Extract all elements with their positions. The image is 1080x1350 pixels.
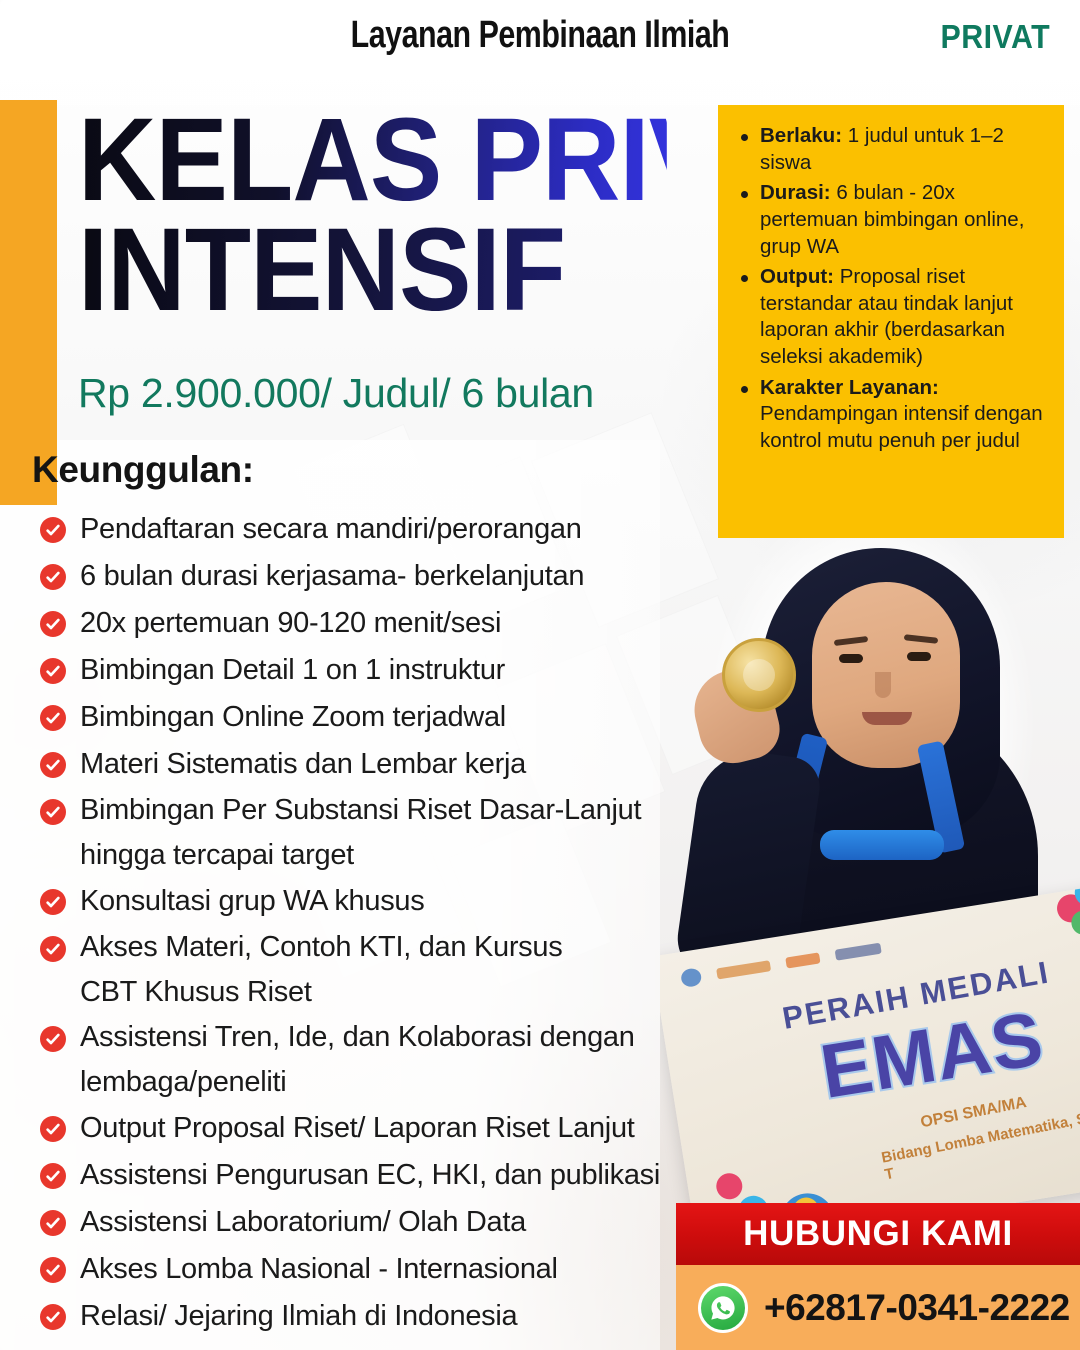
nose: [875, 672, 891, 698]
lanyard-bottom: [820, 830, 944, 860]
feature-label: Relasi/ Jejaring Ilmiah di Indonesia: [80, 1300, 517, 1332]
logo-mark-4: [835, 942, 882, 960]
feature-label: Assistensi Tren, Ide, dan Kolaborasi den…: [80, 1021, 635, 1098]
feature-label: 6 bulan durasi kerjasama- berkelanjutan: [80, 560, 584, 592]
feature-item: Bimbingan Online Zoom terjadwal: [32, 694, 672, 741]
feature-label: Pendaftaran secara mandiri/perorangan: [80, 513, 582, 545]
poster-root: Layanan Pembinaan Ilmiah PRIVAT KELAS PR…: [0, 0, 1080, 1350]
check-icon: [40, 564, 66, 590]
check-icon: [40, 705, 66, 731]
feature-item: Konsultasi grup WA khusus: [32, 878, 672, 925]
info-item: Durasi: 6 bulan - 20x pertemuan bimbinga…: [734, 180, 1048, 260]
feature-label: 20x pertemuan 90-120 menit/sesi: [80, 607, 501, 639]
feature-item: Materi Sistematis dan Lembar kerja: [32, 741, 672, 788]
gold-medal-icon: [722, 638, 796, 712]
info-item: Berlaku: 1 judul untuk 1–2 siswa: [734, 123, 1048, 176]
feature-label: Output Proposal Riset/ Laporan Riset Lan…: [80, 1112, 635, 1144]
feature-label: Konsultasi grup WA khusus: [80, 885, 424, 917]
header-title: Layanan Pembinaan Ilmiah: [108, 14, 972, 57]
check-icon: [40, 799, 66, 825]
feature-item: Assistensi Laboratorium/ Olah Data: [32, 1199, 672, 1246]
check-icon: [40, 1304, 66, 1330]
contact-block[interactable]: HUBUNGI KAMI +62817-0341-2222: [676, 1203, 1080, 1350]
check-icon: [40, 936, 66, 962]
feature-item: Pendaftaran secara mandiri/perorangan: [32, 506, 672, 553]
features-list: Pendaftaran secara mandiri/perorangan 6 …: [32, 506, 672, 1340]
header-badge-privat: PRIVAT: [940, 18, 1050, 56]
headline-block: KELAS PRIVAT INTENSIF: [78, 106, 718, 325]
eye-left: [839, 654, 863, 663]
logo-mark-1: [680, 967, 703, 988]
check-icon: [40, 517, 66, 543]
feature-item: 20x pertemuan 90-120 menit/sesi: [32, 600, 672, 647]
check-icon: [40, 1257, 66, 1283]
check-icon: [40, 752, 66, 778]
logo-mark-3: [785, 952, 820, 968]
feature-item: 6 bulan durasi kerjasama- berkelanjutan: [32, 553, 672, 600]
contact-phone-number[interactable]: +62817-0341-2222: [764, 1287, 1070, 1329]
feature-item: Bimbingan Per Substansi Riset Dasar-Lanj…: [32, 788, 672, 878]
check-icon: [40, 1026, 66, 1052]
feature-item: Akses Materi, Contoh KTI, dan Kursus CBT…: [32, 925, 592, 1015]
mouth: [862, 712, 912, 725]
feature-label: Bimbingan Per Substansi Riset Dasar-Lanj…: [80, 794, 641, 871]
feature-label: Bimbingan Detail 1 on 1 instruktur: [80, 654, 505, 686]
feature-item: Relasi/ Jejaring Ilmiah di Indonesia: [32, 1293, 672, 1340]
check-icon: [40, 889, 66, 915]
check-icon: [40, 1210, 66, 1236]
info-item-key: Karakter Layanan:: [760, 376, 939, 399]
feature-item: Output Proposal Riset/ Laporan Riset Lan…: [32, 1105, 672, 1152]
feature-label: Materi Sistematis dan Lembar kerja: [80, 748, 526, 780]
info-box: Berlaku: 1 judul untuk 1–2 siswa Durasi:…: [718, 105, 1064, 538]
contact-phone-row[interactable]: +62817-0341-2222: [676, 1265, 1080, 1350]
info-item-key: Output:: [760, 265, 834, 288]
contact-banner-label: HUBUNGI KAMI: [743, 1214, 1013, 1254]
info-item-key: Durasi:: [760, 181, 831, 204]
check-icon: [40, 611, 66, 637]
info-item: Output: Proposal riset terstandar atau t…: [734, 264, 1048, 371]
info-item-value: Pendampingan intensif dengan kontrol mut…: [760, 402, 1043, 452]
student-photo: PERAIH MEDALI EMAS OPSI SMA/MA Bidang Lo…: [660, 520, 1080, 1220]
contact-banner: HUBUNGI KAMI: [676, 1203, 1080, 1265]
check-icon: [40, 1163, 66, 1189]
feature-label: Akses Lomba Nasional - Internasional: [80, 1253, 558, 1285]
eye-right: [907, 652, 931, 661]
whatsapp-icon[interactable]: [698, 1283, 748, 1333]
poster-header: Layanan Pembinaan Ilmiah PRIVAT: [0, 0, 1080, 72]
headline-line-2: INTENSIF: [78, 216, 667, 326]
headline-line-1: KELAS PRIVAT: [78, 106, 667, 216]
feature-label: Assistensi Pengurusan EC, HKI, dan publi…: [80, 1159, 660, 1191]
check-icon: [40, 1116, 66, 1142]
accent-bar: [0, 100, 57, 505]
info-item-key: Berlaku:: [760, 124, 842, 147]
info-list: Berlaku: 1 judul untuk 1–2 siswa Durasi:…: [734, 123, 1048, 455]
feature-label: Assistensi Laboratorium/ Olah Data: [80, 1206, 526, 1238]
feature-item: Bimbingan Detail 1 on 1 instruktur: [32, 647, 672, 694]
feature-item: Akses Lomba Nasional - Internasional: [32, 1246, 672, 1293]
feature-label: Bimbingan Online Zoom terjadwal: [80, 701, 506, 733]
features-title: Keunggulan:: [32, 449, 254, 491]
check-icon: [40, 658, 66, 684]
feature-item: Assistensi Tren, Ide, dan Kolaborasi den…: [32, 1015, 672, 1105]
feature-item: Assistensi Pengurusan EC, HKI, dan publi…: [32, 1152, 672, 1199]
price-label: Rp 2.900.000/ Judul/ 6 bulan: [78, 370, 594, 417]
logo-mark-2: [716, 960, 771, 979]
feature-label: Akses Materi, Contoh KTI, dan Kursus CBT…: [80, 931, 562, 1008]
info-item: Karakter Layanan: Pendampingan intensif …: [734, 375, 1048, 455]
